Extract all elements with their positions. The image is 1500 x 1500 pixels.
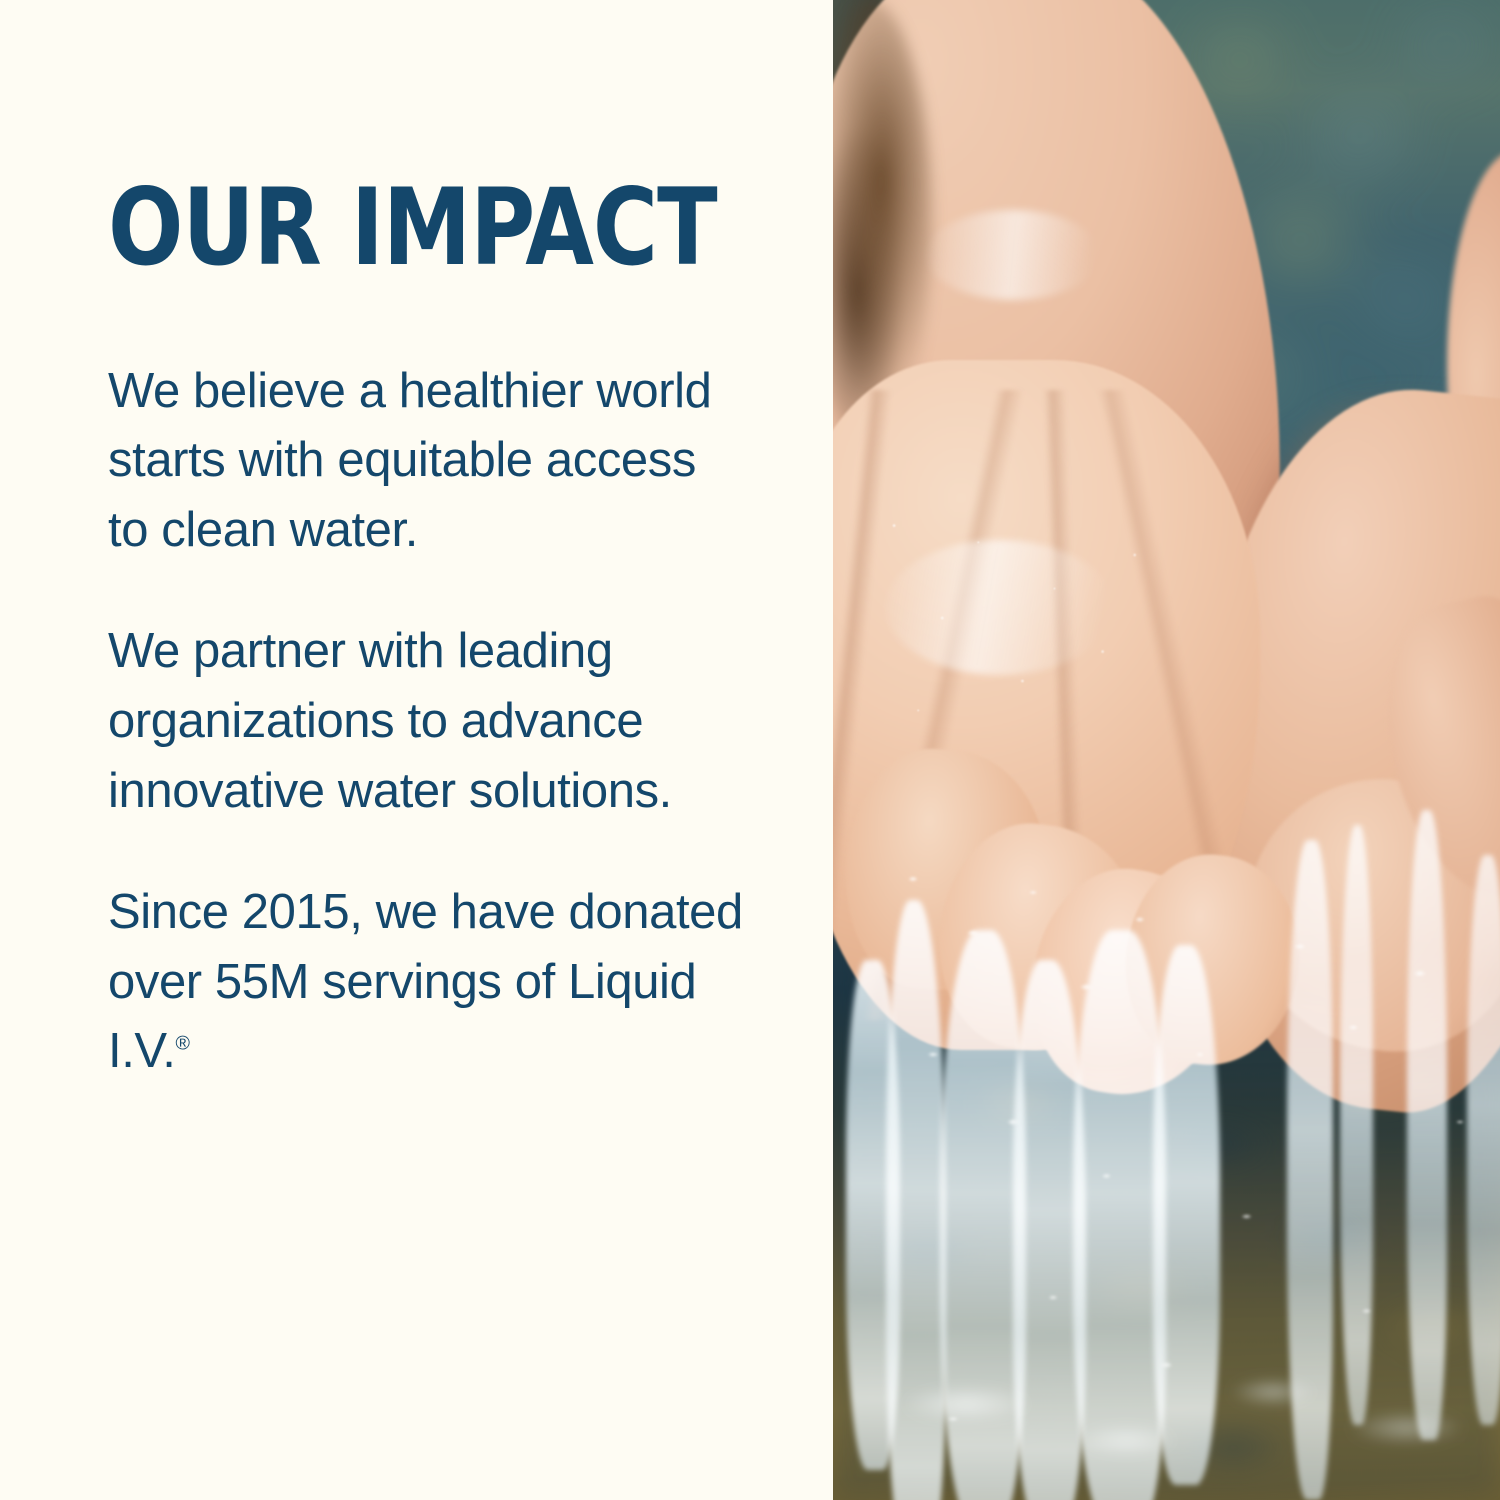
paragraph-donations: Since 2015, we have donated over 55M ser… — [108, 878, 748, 1087]
body-copy: We believe a healthier world starts with… — [108, 357, 753, 1087]
our-impact-card: OUR IMPACT We believe a healthier world … — [0, 0, 1500, 1500]
water-splash-base — [833, 1260, 1500, 1500]
water-droplets-on-skin — [846, 450, 1246, 870]
registered-trademark-icon: ® — [175, 1033, 189, 1055]
paragraph-partnerships: We partner with leading organizations to… — [108, 617, 748, 826]
skin-highlight-upper — [926, 210, 1099, 300]
donations-text: Since 2015, we have donated over 55M ser… — [108, 885, 743, 1078]
page-title: OUR IMPACT — [108, 178, 708, 279]
water-hands-photo — [833, 0, 1500, 1500]
text-panel: OUR IMPACT We believe a healthier world … — [0, 0, 833, 1500]
paragraph-mission: We believe a healthier world starts with… — [108, 357, 748, 566]
